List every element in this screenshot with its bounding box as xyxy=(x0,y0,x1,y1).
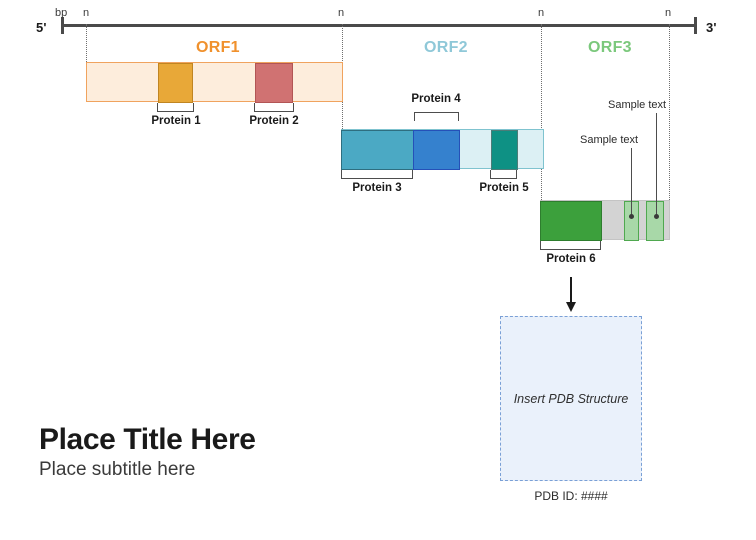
orf3-track[interactable] xyxy=(540,200,670,240)
orf2-track[interactable] xyxy=(341,129,544,169)
protein-5-bracket xyxy=(490,170,517,179)
tick-label-n-2: n xyxy=(338,7,344,19)
flow-arrow-head xyxy=(566,302,576,312)
protein-6-label: Protein 6 xyxy=(531,253,611,265)
protein-2-label: Protein 2 xyxy=(234,115,314,127)
protein-4-bracket xyxy=(414,112,459,121)
protein-3-segment[interactable] xyxy=(341,130,414,170)
orf-label-orf2: ORF2 xyxy=(424,39,468,57)
guide-line-orf3-end xyxy=(669,24,670,204)
flow-arrow-shaft xyxy=(570,277,572,305)
genome-axis-line xyxy=(61,24,697,27)
callout-upper-leader xyxy=(656,113,657,216)
tick-label-bp: bp xyxy=(55,7,67,19)
orf1-track[interactable] xyxy=(86,62,343,102)
protein-5-label: Protein 5 xyxy=(464,182,544,194)
protein-5-segment[interactable] xyxy=(491,130,518,170)
feature-segment-2[interactable] xyxy=(646,201,664,241)
figure-canvas: 5' 3' bp n n n n ORF1 ORF2 ORF3 Protein … xyxy=(0,0,756,540)
three-prime-label: 3' xyxy=(706,20,717,35)
tick-label-n-4: n xyxy=(665,7,671,19)
protein-2-segment[interactable] xyxy=(255,63,293,103)
tick-label-n-3: n xyxy=(538,7,544,19)
protein-1-bracket xyxy=(157,103,194,112)
pdb-placeholder-text: Insert PDB Structure xyxy=(514,392,629,406)
protein-2-bracket xyxy=(254,103,294,112)
page-title: Place Title Here xyxy=(39,423,256,457)
protein-4-segment[interactable] xyxy=(413,130,460,170)
callout-lower-leader xyxy=(631,148,632,216)
axis-end-cap xyxy=(694,17,697,34)
protein-1-segment[interactable] xyxy=(158,63,193,103)
protein-4-label: Protein 4 xyxy=(396,93,476,105)
pdb-id-label: PDB ID: #### xyxy=(500,489,642,503)
guide-line-orf1-start xyxy=(86,24,87,66)
pdb-structure-placeholder[interactable]: Insert PDB Structure xyxy=(500,316,642,481)
protein-3-bracket xyxy=(341,170,413,179)
callout-lower-anchor-dot xyxy=(629,214,634,219)
callout-upper-anchor-dot xyxy=(654,214,659,219)
protein-1-label: Protein 1 xyxy=(136,115,216,127)
five-prime-label: 5' xyxy=(36,20,47,35)
page-subtitle: Place subtitle here xyxy=(39,459,195,481)
tick-label-n-1: n xyxy=(83,7,89,19)
axis-start-cap xyxy=(61,17,64,34)
guide-line-orf3-start xyxy=(541,24,542,204)
orf-label-orf3: ORF3 xyxy=(588,39,632,57)
protein-3-label: Protein 3 xyxy=(337,182,417,194)
orf-label-orf1: ORF1 xyxy=(196,39,240,57)
protein-6-segment[interactable] xyxy=(540,201,602,241)
protein-6-bracket xyxy=(540,241,601,250)
callout-upper-text: Sample text xyxy=(608,99,666,111)
callout-lower-text: Sample text xyxy=(580,134,638,146)
